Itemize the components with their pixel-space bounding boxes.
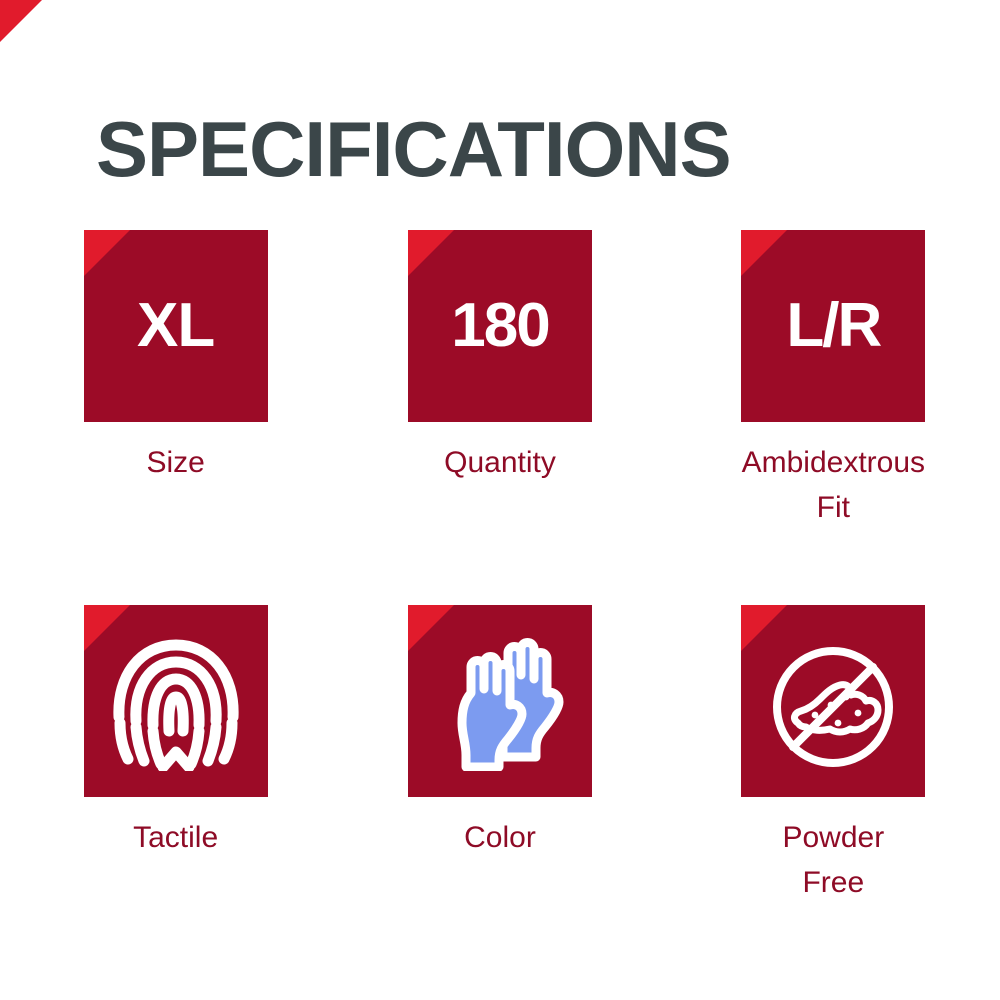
corner-accent-triangle [0, 0, 42, 42]
spec-tile-ambidextrous-fit: L/R [741, 230, 925, 422]
spec-label-size: Size [41, 440, 311, 485]
spec-label-line-2: Fit [698, 485, 968, 530]
spec-value-ambidextrous-fit: L/R [786, 295, 880, 357]
spec-label-ambidextrous-fit: Ambidextrous Fit [698, 440, 968, 530]
spec-label-color: Color [365, 815, 635, 860]
fingerprint-icon [111, 631, 241, 771]
spec-tile-quantity: 180 [408, 230, 592, 422]
spec-tile-tactile [84, 605, 268, 797]
spec-item-color: Color [333, 605, 666, 980]
spec-label-line-1: Ambidextrous [698, 440, 968, 485]
spec-tile-powder-free [741, 605, 925, 797]
page-title: SPECIFICATIONS [96, 110, 926, 188]
spec-item-powder-free: Powder Free [667, 605, 1000, 980]
spec-label-line-1: Powder [698, 815, 968, 860]
spec-item-ambidextrous-fit: L/R Ambidextrous Fit [667, 230, 1000, 605]
spec-label-tactile: Tactile [41, 815, 311, 860]
spec-tile-size: XL [84, 230, 268, 422]
spec-tile-color [408, 605, 592, 797]
spec-label-quantity: Quantity [365, 440, 635, 485]
spec-label-line-2: Free [698, 860, 968, 905]
spec-item-quantity: 180 Quantity [333, 230, 666, 605]
spec-item-size: XL Size [0, 230, 333, 605]
no-powder-icon [768, 631, 898, 771]
specifications-grid: XL Size 180 Quantity L/R Ambidextrous Fi… [0, 230, 1000, 980]
spec-item-tactile: Tactile [0, 605, 333, 980]
gloves-icon [435, 631, 565, 771]
spec-label-powder-free: Powder Free [698, 815, 968, 905]
spec-value-quantity: 180 [451, 295, 548, 357]
spec-value-size: XL [137, 295, 214, 357]
